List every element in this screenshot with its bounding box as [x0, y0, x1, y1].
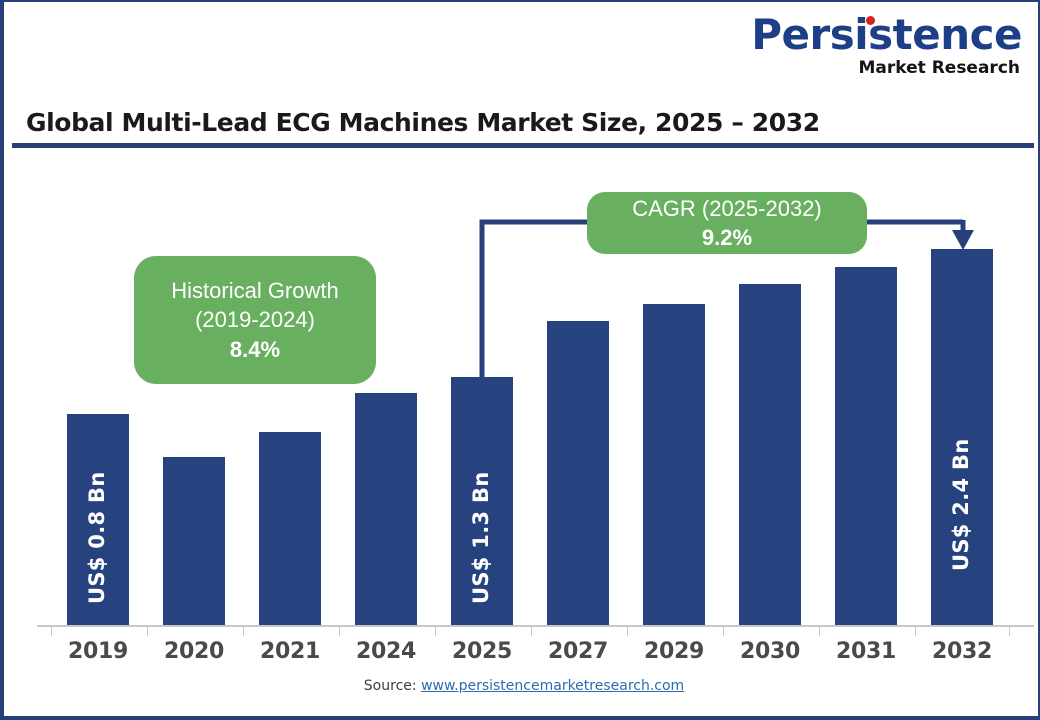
source-note: Source: www.persistencemarketresearch.co… — [4, 678, 1040, 694]
x-axis-label-2021: 2021 — [243, 639, 337, 664]
chart-page: Persistence Market Research Global Multi… — [0, 0, 1040, 720]
x-axis-label-2031: 2031 — [819, 639, 913, 664]
cagr-value: 9.2% — [702, 223, 752, 252]
bar-2024 — [355, 393, 417, 625]
x-tick-2024 — [339, 625, 340, 636]
x-axis-label-2027: 2027 — [531, 639, 625, 664]
x-axis-label-2032: 2032 — [915, 639, 1009, 664]
bar-2031 — [835, 267, 897, 625]
historical-growth-line1: Historical Growth — [171, 276, 338, 305]
bar-2030 — [739, 284, 801, 625]
x-tick-2027 — [531, 625, 532, 636]
cagr-line1: CAGR (2025-2032) — [632, 194, 822, 223]
bar-2020 — [163, 457, 225, 625]
cagr-badge: CAGR (2025-2032) 9.2% — [587, 192, 867, 254]
historical-growth-line2: (2019-2024) — [195, 305, 315, 334]
bar-2021 — [259, 432, 321, 625]
x-axis-label-2024: 2024 — [339, 639, 433, 664]
x-axis-label-2030: 2030 — [723, 639, 817, 664]
bar-2027 — [547, 321, 609, 625]
x-axis-label-2020: 2020 — [147, 639, 241, 664]
x-tick-end — [1009, 625, 1010, 636]
x-tick-2020 — [147, 625, 148, 636]
x-tick-2032 — [915, 625, 916, 636]
x-axis-label-2019: 2019 — [51, 639, 145, 664]
x-axis-label-2025: 2025 — [435, 639, 529, 664]
bar-2029 — [643, 304, 705, 625]
bar-value-label-2019: US$ 0.8 Bn — [85, 471, 109, 604]
x-axis-label-2029: 2029 — [627, 639, 721, 664]
bar-value-label-2025: US$ 1.3 Bn — [469, 471, 493, 604]
source-link[interactable]: www.persistencemarketresearch.com — [421, 678, 684, 694]
historical-growth-badge: Historical Growth (2019-2024) 8.4% — [134, 256, 376, 384]
bar-value-label-2032: US$ 2.4 Bn — [949, 438, 973, 571]
historical-growth-value: 8.4% — [230, 335, 280, 364]
x-tick-2029 — [627, 625, 628, 636]
x-axis-line — [37, 625, 1034, 627]
source-prefix: Source: — [364, 678, 421, 694]
x-tick-2030 — [723, 625, 724, 636]
x-tick-2021 — [243, 625, 244, 636]
x-tick-2031 — [819, 625, 820, 636]
x-tick-2025 — [435, 625, 436, 636]
x-tick-2019 — [51, 625, 52, 636]
